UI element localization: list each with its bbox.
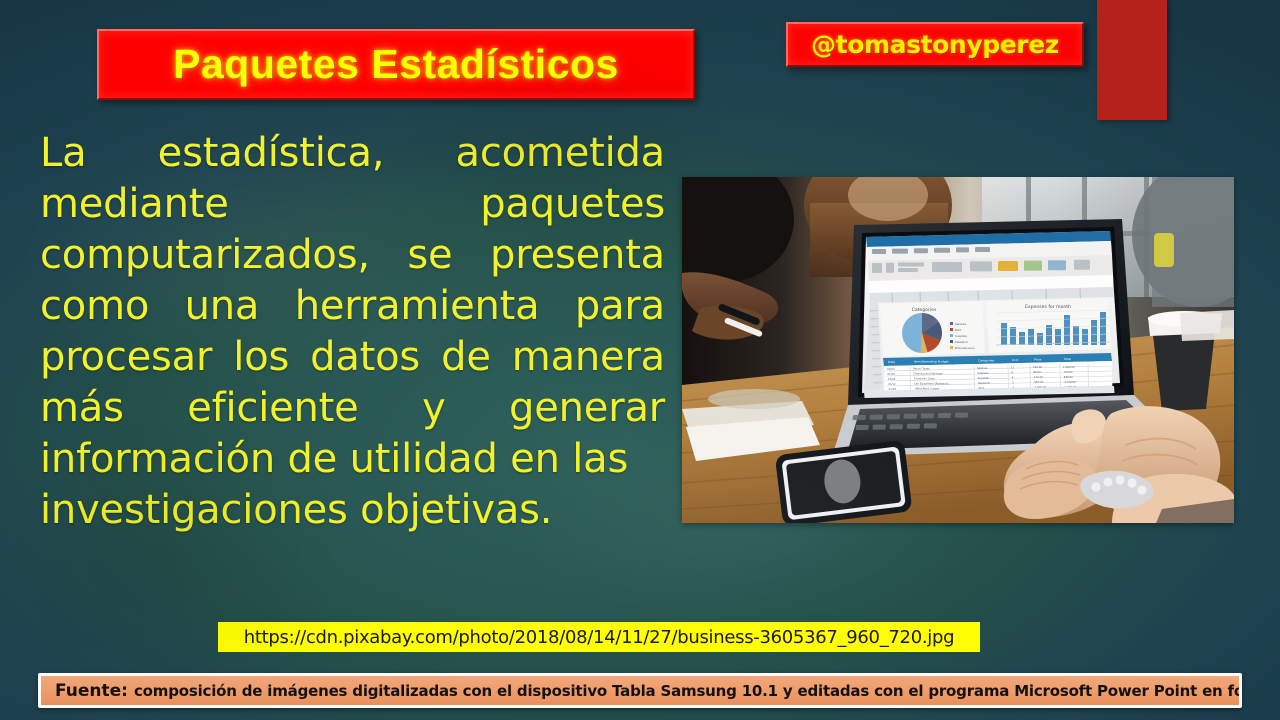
svg-text:Payroll Taxes: Payroll Taxes	[913, 367, 930, 371]
page-title: Paquetes Estadísticos	[173, 41, 619, 88]
svg-text:Item/Operating Budget: Item/Operating Budget	[914, 360, 949, 364]
image-source-url-caption: https://cdn.pixabay.com/photo/2018/08/14…	[218, 622, 980, 652]
svg-text:Salaries: Salaries	[955, 322, 967, 326]
svg-text:01/03: 01/03	[887, 367, 895, 371]
svg-text:560.00: 560.00	[1034, 380, 1043, 384]
svg-text:Cleaning and Services: Cleaning and Services	[913, 372, 942, 376]
svg-text:1,680.00: 1,680.00	[1063, 365, 1075, 369]
svg-text:Furniture / Chair: Furniture / Chair	[914, 377, 936, 381]
svg-text:Categories: Categories	[978, 359, 995, 363]
body-paragraph-text: La estadística, acometida mediante paque…	[40, 130, 665, 482]
source-footer-bar: Fuente: composición de imágenes digitali…	[38, 673, 1242, 708]
svg-text:Supplies: Supplies	[955, 334, 967, 338]
svg-text:12: 12	[1011, 366, 1015, 370]
svg-text:Research: Research	[978, 381, 990, 385]
svg-text:Rent: Rent	[955, 328, 962, 332]
svg-text:1,120.00: 1,120.00	[1064, 380, 1076, 384]
svg-text:Salaries: Salaries	[977, 366, 988, 370]
svg-text:Unit: Unit	[1012, 358, 1019, 362]
svg-text:01/09: 01/09	[888, 377, 896, 381]
photo-illustration: Categories Salaries Rent Supplies Resear…	[682, 177, 1234, 523]
svg-text:840.00: 840.00	[1064, 375, 1073, 379]
presentation-slide: Paquetes Estadísticos @tomastonyperez La…	[0, 0, 1280, 720]
body-paragraph-last-line: investigaciones objetivas.	[40, 485, 665, 536]
svg-text:Date: Date	[888, 360, 895, 364]
body-paragraph: La estadística, acometida mediante paque…	[40, 128, 665, 536]
author-handle-text: @tomastonyperez	[811, 30, 1059, 59]
svg-text:210.00: 210.00	[1034, 375, 1043, 379]
svg-text:01/05: 01/05	[887, 372, 895, 376]
bar-chart-title: Expenses for month	[1025, 304, 1071, 310]
svg-text:Lab Equipment (Research): Lab Equipment (Research)	[914, 382, 948, 386]
business-meeting-photo: Categories Salaries Rent Supplies Resear…	[682, 177, 1234, 523]
svg-text:720.00: 720.00	[1063, 370, 1072, 374]
svg-text:Total: Total	[1063, 357, 1071, 361]
decorative-red-block	[1097, 0, 1167, 120]
svg-text:90.00: 90.00	[1033, 370, 1041, 374]
source-description: composición de imágenes digitalizadas co…	[134, 682, 1242, 700]
author-handle-badge: @tomastonyperez	[786, 22, 1084, 67]
svg-text:Price: Price	[1034, 358, 1041, 362]
svg-text:Supplies: Supplies	[977, 371, 989, 375]
pie-chart-title: Categories	[912, 307, 937, 313]
image-source-url-text: https://cdn.pixabay.com/photo/2018/08/14…	[244, 627, 954, 648]
svg-text:Miscellaneous: Miscellaneous	[955, 346, 975, 350]
slide-title-banner: Paquetes Estadísticos	[97, 29, 695, 100]
source-label: Fuente:	[55, 681, 128, 701]
svg-text:Research: Research	[955, 340, 968, 344]
svg-text:Supplies: Supplies	[978, 376, 990, 380]
svg-text:140.00: 140.00	[1033, 365, 1042, 369]
svg-text:01/12: 01/12	[888, 382, 896, 386]
